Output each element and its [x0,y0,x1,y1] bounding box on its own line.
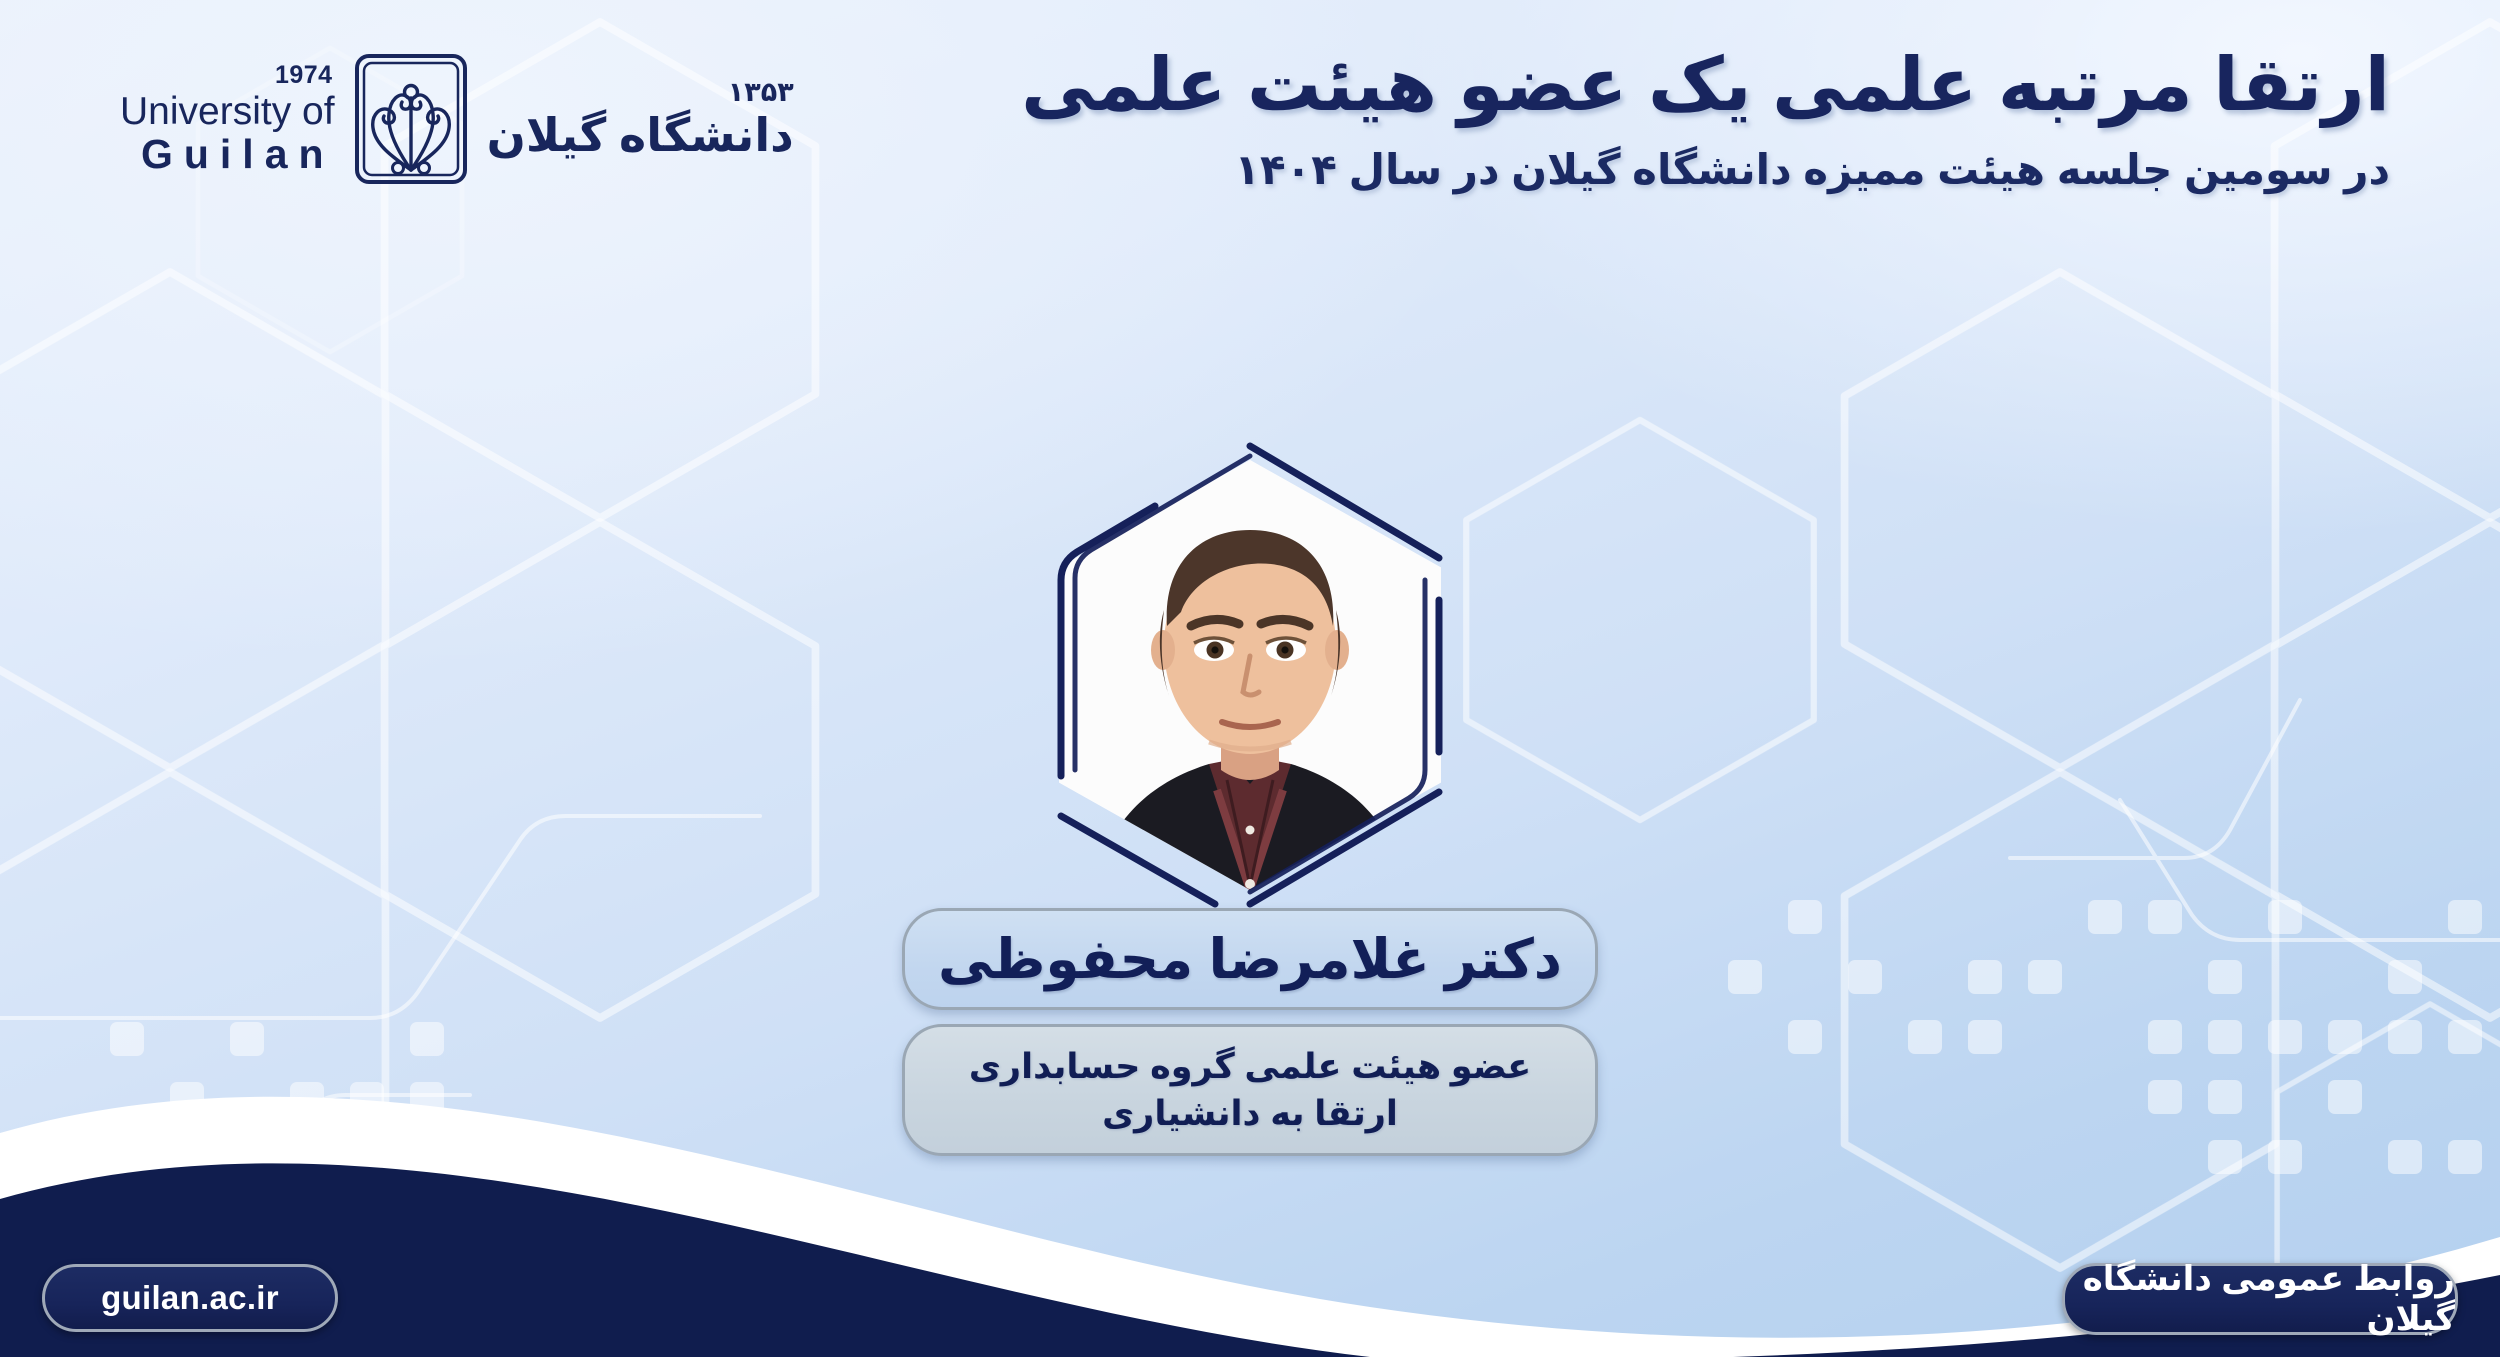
portrait-frame [1035,440,1465,910]
public-relations-label: روابط عمومی دانشگاه گیلان [2065,1259,2455,1339]
logo-guilan: Guilan [141,134,335,175]
logo-english-text: 1974 University of Guilan [120,63,335,175]
person-role-plate: عضو هیئت علمی گروه حسابداری ارتقا به دان… [902,1024,1598,1156]
poster-canvas: 1974 University of Guilan ۱۳۵۳ دانشگاه گ… [0,0,2500,1357]
university-logo: 1974 University of Guilan ۱۳۵۳ دانشگاه گ… [120,52,794,186]
hexagon-frame-outline [1035,440,1465,910]
logo-university-name-persian: دانشگاه گیلان [487,110,794,161]
person-name-plate: دکتر غلامرضا محفوظی [902,908,1598,1010]
website-url: guilan.ac.ir [101,1279,279,1317]
logo-university-of: University of [120,92,335,131]
decorative-square-grid-right [1668,900,2482,1174]
logo-founding-year-latin: 1974 [275,63,333,88]
page-subtitle: در سومین جلسه هیئت ممیزه دانشگاه گیلان د… [1021,144,2390,197]
page-title: ارتقا مرتبه علمی یک عضو هیئت علمی [1021,40,2390,130]
logo-founding-year-persian: ۱۳۵۳ [728,77,794,108]
person-name: دکتر غلامرضا محفوظی [938,932,1562,987]
logo-persian-text: ۱۳۵۳ دانشگاه گیلان [487,77,794,161]
public-relations-badge[interactable]: روابط عمومی دانشگاه گیلان [2062,1263,2458,1335]
person-role-line2: ارتقا به دانشیاری [1102,1093,1398,1134]
header-block: ارتقا مرتبه علمی یک عضو هیئت علمی در سوم… [1021,40,2390,197]
website-badge[interactable]: guilan.ac.ir [42,1264,338,1332]
decorative-square-grid-left [0,1022,444,1296]
guilan-university-emblem-icon [351,52,471,186]
person-role-line1: عضو هیئت علمی گروه حسابداری [969,1046,1531,1087]
